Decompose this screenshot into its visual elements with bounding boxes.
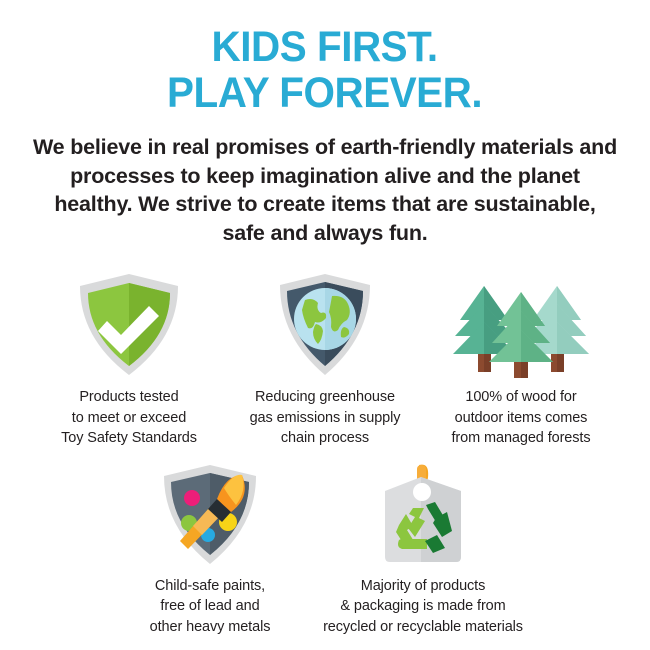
shield-paintbrush-icon xyxy=(158,463,262,567)
caption-line-1: 100% of wood for xyxy=(451,387,590,408)
headline-line-1: Kids First. xyxy=(167,24,482,70)
feature-row-secondary: Child-safe paints, free of lead and othe… xyxy=(0,457,650,638)
caption-line-2: free of lead and xyxy=(150,596,271,617)
page-title: Kids First. Play Forever. xyxy=(167,24,482,117)
infographic-page: Kids First. Play Forever. We believe in … xyxy=(0,0,650,650)
feature-caption: Products tested to meet or exceed Toy Sa… xyxy=(61,387,197,449)
caption-line-1: Majority of products xyxy=(323,576,523,597)
shield-check-icon xyxy=(73,272,185,378)
caption-line-2: to meet or exceed xyxy=(61,408,197,429)
feature-caption: 100% of wood for outdoor items comes fro… xyxy=(451,387,590,449)
feature-caption: Majority of products & packaging is made… xyxy=(323,576,523,638)
caption-line-2: outdoor items comes xyxy=(451,408,590,429)
caption-line-3: recycled or recyclable materials xyxy=(323,617,523,638)
feature-managed-forests: 100% of wood for outdoor items comes fro… xyxy=(423,268,619,449)
caption-line-2: & packaging is made from xyxy=(323,596,523,617)
caption-line-3: chain process xyxy=(250,428,401,449)
lede-line-1: We believe in real promises of earth-fri… xyxy=(33,135,475,159)
feature-caption: Reducing greenhouse gas emissions in sup… xyxy=(250,387,401,449)
shield-globe-icon-wrapper xyxy=(274,268,376,378)
feature-recycled-materials: Majority of products & packaging is made… xyxy=(308,457,538,638)
feature-child-safe-paints: Child-safe paints, free of lead and othe… xyxy=(112,457,308,638)
feature-caption: Child-safe paints, free of lead and othe… xyxy=(150,576,271,638)
pine-trees-icon-wrapper xyxy=(453,268,589,378)
caption-line-3: from managed forests xyxy=(451,428,590,449)
intro-paragraph: We believe in real promises of earth-fri… xyxy=(32,133,618,248)
caption-line-2: gas emissions in supply xyxy=(250,408,401,429)
headline-line-2: Play Forever. xyxy=(167,70,482,116)
shield-check-icon-wrapper xyxy=(73,268,185,378)
caption-line-1: Products tested xyxy=(61,387,197,408)
shield-globe-icon xyxy=(274,272,376,378)
feature-toy-safety: Products tested to meet or exceed Toy Sa… xyxy=(31,268,227,449)
shield-paintbrush-icon-wrapper xyxy=(158,457,262,567)
recycle-tag-icon xyxy=(375,461,471,567)
caption-line-1: Child-safe paints, xyxy=(150,576,271,597)
caption-line-3: other heavy metals xyxy=(150,617,271,638)
feature-greenhouse-gas: Reducing greenhouse gas emissions in sup… xyxy=(227,268,423,449)
caption-line-3: Toy Safety Standards xyxy=(61,428,197,449)
pine-trees-icon xyxy=(453,278,589,378)
recycle-tag-icon-wrapper xyxy=(375,457,471,567)
caption-line-1: Reducing greenhouse xyxy=(250,387,401,408)
feature-row-primary: Products tested to meet or exceed Toy Sa… xyxy=(0,268,650,449)
